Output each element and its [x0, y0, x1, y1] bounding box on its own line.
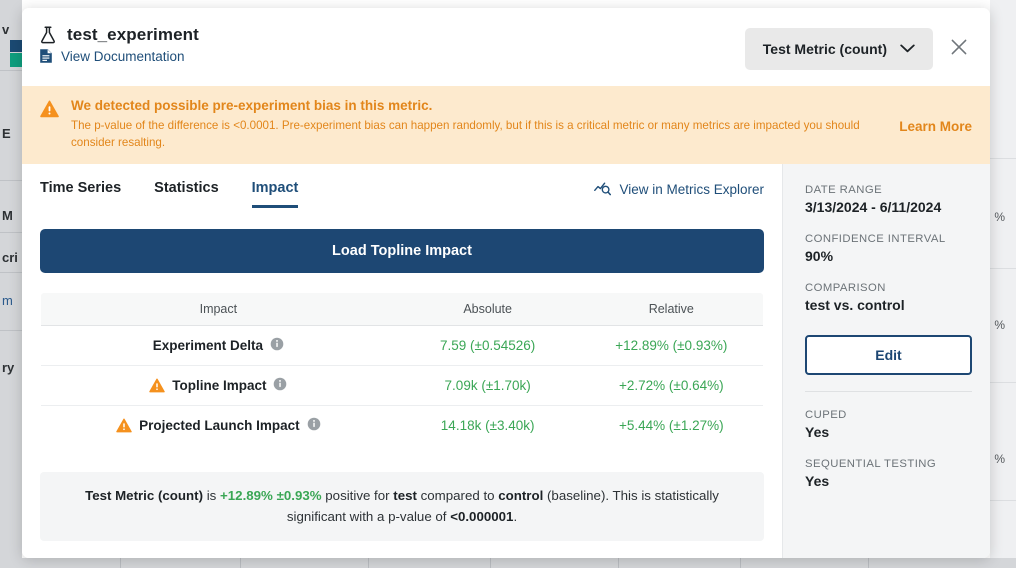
- confidence-interval-value: 90%: [805, 248, 972, 264]
- row-cell-relative: +2.72% (±0.64%): [580, 366, 764, 406]
- banner-body: The p-value of the difference is <0.0001…: [71, 117, 887, 152]
- background-bottom-strip: [0, 558, 1016, 568]
- background-text-fragment: %: [994, 210, 1005, 224]
- impact-table-head: Impact Absolute Relative: [41, 293, 764, 326]
- background-column-divider: [368, 558, 369, 568]
- background-rule: [0, 330, 22, 331]
- sequential-testing-value: Yes: [805, 473, 972, 489]
- background-column-divider: [240, 558, 241, 568]
- background-rule: [0, 232, 22, 233]
- background-text-fragment: ry: [2, 360, 14, 375]
- background-text-fragment: %: [994, 318, 1005, 332]
- experiment-title: test_experiment: [67, 25, 199, 45]
- background-column-divider: [740, 558, 741, 568]
- info-icon[interactable]: [273, 377, 287, 394]
- info-icon[interactable]: [270, 337, 284, 354]
- row-label-text: Projected Launch Impact: [139, 418, 300, 433]
- metrics-explorer-label: View in Metrics Explorer: [619, 182, 764, 197]
- summary-pvalue: <0.000001: [450, 509, 513, 524]
- summary-compared: compared to: [417, 488, 498, 503]
- confidence-interval-label: CONFIDENCE INTERVAL: [805, 233, 972, 245]
- impact-table-header-row: Impact Absolute Relative: [41, 293, 764, 326]
- summary-period: .: [513, 509, 517, 524]
- view-in-metrics-explorer-link[interactable]: View in Metrics Explorer: [594, 181, 764, 208]
- banner-text-wrap: We detected possible pre-experiment bias…: [71, 98, 887, 152]
- background-rule: [990, 158, 1016, 159]
- row-cell-relative: +5.44% (±1.27%): [580, 406, 764, 446]
- column-header-relative: Relative: [580, 293, 764, 326]
- row-cell-label: Experiment Delta: [41, 326, 396, 366]
- pre-experiment-bias-banner: We detected possible pre-experiment bias…: [22, 86, 990, 164]
- main-pane: Time Series Statistics Impact View in Me…: [22, 164, 782, 558]
- tab-time-series[interactable]: Time Series: [40, 180, 121, 208]
- background-text-fragment: cri: [2, 250, 18, 265]
- document-icon: [39, 48, 53, 64]
- background-text-fragment: %: [994, 452, 1005, 466]
- row-label-text: Experiment Delta: [153, 338, 263, 353]
- impact-table: Impact Absolute Relative Experiment Delt…: [40, 292, 764, 446]
- comparison-value: test vs. control: [805, 297, 972, 313]
- experiment-title-row: test_experiment: [38, 25, 199, 45]
- background-rule: [990, 268, 1016, 269]
- background-chip-teal: [10, 53, 22, 67]
- banner-title: We detected possible pre-experiment bias…: [71, 98, 887, 113]
- summary-metric-name: Test Metric (count): [85, 488, 203, 503]
- chart-search-icon: [594, 181, 611, 199]
- background-rule: [0, 272, 22, 273]
- column-header-impact: Impact: [41, 293, 396, 326]
- learn-more-link[interactable]: Learn More: [899, 119, 972, 134]
- row-warning-icon: [149, 378, 165, 393]
- sidebar-divider: [805, 391, 972, 392]
- date-range-value: 3/13/2024 - 6/11/2024: [805, 199, 972, 215]
- background-rule: [0, 180, 22, 181]
- summary-baseline: control: [498, 488, 543, 503]
- row-label-wrap: Topline Impact: [41, 377, 396, 394]
- cuped-value: Yes: [805, 424, 972, 440]
- background-column-divider: [868, 558, 869, 568]
- warning-triangle-icon: [40, 100, 59, 123]
- background-rule: [990, 382, 1016, 383]
- background-column-divider: [618, 558, 619, 568]
- tab-list: Time Series Statistics Impact: [40, 180, 298, 208]
- tab-row: Time Series Statistics Impact View in Me…: [40, 164, 764, 208]
- row-label-wrap: Experiment Delta: [41, 337, 396, 354]
- background-rule: [0, 70, 22, 71]
- metric-detail-modal: test_experiment View Documentation Test: [22, 8, 990, 558]
- background-text-fragment: m: [2, 293, 13, 308]
- row-cell-relative: +12.89% (±0.93%): [580, 326, 764, 366]
- modal-header-left: test_experiment View Documentation: [38, 25, 199, 64]
- summary-middle: positive for: [322, 488, 394, 503]
- impact-table-body: Experiment Delta 7.59 (±0: [41, 326, 764, 446]
- date-range-label: DATE RANGE: [805, 184, 972, 196]
- table-row: Projected Launch Impact 1: [41, 406, 764, 446]
- modal-header: test_experiment View Documentation Test: [22, 8, 990, 86]
- background-column-divider: [490, 558, 491, 568]
- row-cell-label: Topline Impact: [41, 366, 396, 406]
- table-row: Topline Impact 7.09k (±1.: [41, 366, 764, 406]
- view-documentation-link[interactable]: View Documentation: [61, 49, 185, 64]
- flask-icon: [38, 25, 58, 45]
- row-cell-absolute: 14.18k (±3.40k): [396, 406, 580, 446]
- row-label-wrap: Projected Launch Impact: [41, 417, 396, 434]
- tab-impact[interactable]: Impact: [252, 180, 299, 208]
- summary-delta: +12.89% ±0.93%: [220, 488, 322, 503]
- table-row: Experiment Delta 7.59 (±0: [41, 326, 764, 366]
- cuped-label: CUPED: [805, 409, 972, 421]
- close-icon: [949, 37, 969, 62]
- background-text-fragment: M: [2, 208, 13, 223]
- background-chip-navy: [10, 40, 22, 52]
- details-sidebar: DATE RANGE 3/13/2024 - 6/11/2024 CONFIDE…: [782, 164, 990, 558]
- significance-summary: Test Metric (count) is +12.89% ±0.93% po…: [40, 472, 764, 541]
- row-warning-icon: [116, 418, 132, 433]
- info-icon[interactable]: [307, 417, 321, 434]
- background-text-fragment: v: [2, 22, 9, 37]
- background-right-column: %%%: [990, 0, 1016, 568]
- row-label-text: Topline Impact: [172, 378, 266, 393]
- column-header-absolute: Absolute: [396, 293, 580, 326]
- modal-header-right: Test Metric (count): [745, 28, 972, 70]
- edit-button[interactable]: Edit: [805, 335, 972, 375]
- row-cell-absolute: 7.59 (±0.54526): [396, 326, 580, 366]
- summary-variant: test: [393, 488, 417, 503]
- row-cell-label: Projected Launch Impact: [41, 406, 396, 446]
- metric-selector-dropdown[interactable]: Test Metric (count): [745, 28, 933, 70]
- summary-is: is: [203, 488, 220, 503]
- background-rule: [990, 500, 1016, 501]
- sequential-testing-label: SEQUENTIAL TESTING: [805, 458, 972, 470]
- tab-statistics[interactable]: Statistics: [154, 180, 218, 208]
- close-button[interactable]: [946, 36, 972, 62]
- background-left-column: vEMcrimry: [0, 0, 22, 568]
- comparison-label: COMPARISON: [805, 282, 972, 294]
- chevron-down-icon: [900, 40, 915, 58]
- modal-body: Time Series Statistics Impact View in Me…: [22, 164, 990, 558]
- row-cell-absolute: 7.09k (±1.70k): [396, 366, 580, 406]
- documentation-row[interactable]: View Documentation: [38, 48, 199, 64]
- load-topline-impact-button[interactable]: Load Topline Impact: [40, 229, 764, 273]
- metric-selector-label: Test Metric (count): [763, 41, 887, 57]
- background-column-divider: [120, 558, 121, 568]
- background-text-fragment: E: [2, 126, 11, 141]
